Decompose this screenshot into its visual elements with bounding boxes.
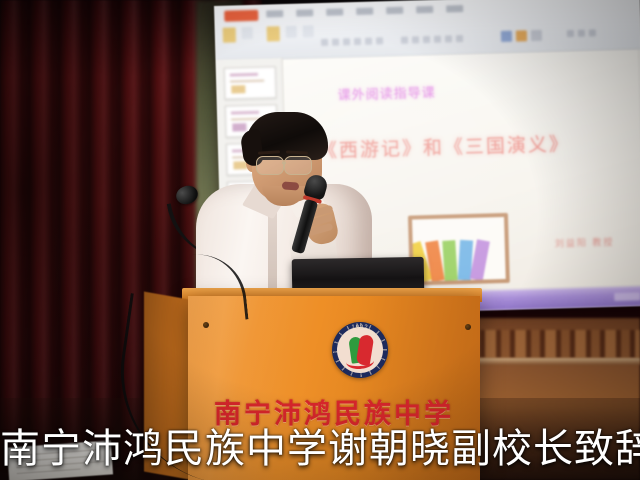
eyeglasses-lens-right — [284, 156, 312, 175]
eyeglasses-bridge — [282, 162, 286, 164]
caption-overlay: 南宁沛鸿民族中学谢朝晓副校长致辞 — [0, 426, 640, 472]
quick-styles-icon[interactable] — [516, 30, 527, 41]
ribbon-tab-strip[interactable] — [266, 5, 463, 17]
bold-icon[interactable] — [321, 39, 328, 46]
align-center-icon[interactable] — [445, 35, 452, 42]
shapes-icon[interactable] — [501, 31, 512, 42]
layout-icon[interactable] — [286, 26, 297, 38]
select-icon[interactable] — [589, 29, 596, 36]
ribbon-tab-item[interactable] — [326, 8, 343, 15]
slides-group[interactable] — [267, 25, 314, 41]
ribbon-tab-item[interactable] — [416, 6, 433, 13]
editing-group[interactable] — [567, 29, 596, 37]
font-format-group[interactable] — [321, 37, 383, 46]
shadow-icon[interactable] — [354, 38, 361, 45]
slide-byline: 刘益阳 教授 — [555, 234, 615, 249]
cut-icon[interactable] — [242, 27, 253, 39]
align-right-icon[interactable] — [456, 35, 463, 42]
numbering-icon[interactable] — [412, 36, 419, 43]
drawing-group[interactable] — [501, 30, 542, 42]
char-spacing-icon[interactable] — [376, 37, 383, 44]
ribbon-tab-item[interactable] — [296, 9, 313, 16]
new-slide-icon[interactable] — [267, 26, 280, 41]
school-emblem: 1932 — [332, 322, 388, 378]
presenter-mouth — [282, 181, 300, 190]
underline-icon[interactable] — [343, 38, 350, 45]
indent-icon[interactable] — [423, 36, 430, 43]
photograph: 课外阅读指导课 《西游记》和《三国演义》 刘益阳 教授 — [0, 0, 640, 480]
ribbon-tab-item[interactable] — [356, 8, 373, 15]
ribbon-tab-item[interactable] — [446, 5, 463, 12]
clipboard-group[interactable] — [223, 27, 253, 43]
section-icon[interactable] — [303, 25, 314, 37]
slide-title: 课外阅读指导课 — [337, 82, 436, 104]
emblem-year: 1932 — [332, 325, 388, 331]
file-tab[interactable] — [224, 10, 258, 22]
align-left-icon[interactable] — [434, 36, 441, 43]
shape-fill-icon[interactable] — [531, 30, 542, 41]
bullets-icon[interactable] — [401, 37, 408, 44]
system-tray[interactable] — [614, 292, 640, 301]
replace-icon[interactable] — [578, 30, 585, 37]
italic-icon[interactable] — [332, 39, 339, 46]
paragraph-group[interactable] — [401, 35, 463, 44]
paste-icon[interactable] — [223, 27, 236, 42]
find-icon[interactable] — [567, 30, 574, 37]
ribbon-tab-item[interactable] — [266, 10, 283, 17]
lectern-screw — [465, 324, 471, 330]
ribbon-tab-item[interactable] — [386, 7, 403, 14]
eyeglasses-lens-left — [256, 156, 284, 175]
strikethrough-icon[interactable] — [365, 38, 372, 45]
slide-thumbnail[interactable] — [224, 66, 277, 99]
